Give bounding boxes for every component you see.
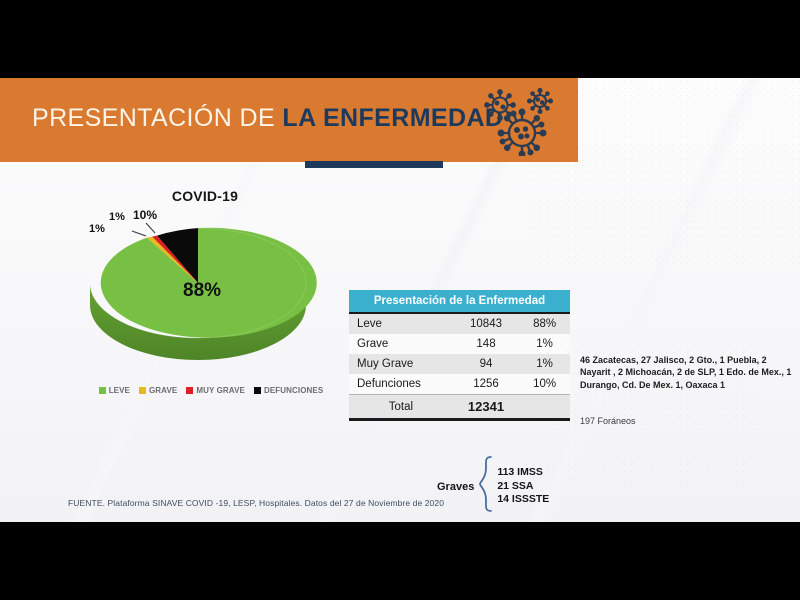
page-title-light: PRESENTACIÓN DE xyxy=(32,104,282,132)
presentation-slide: PRESENTACIÓN DE LA ENFERMEDAD xyxy=(0,78,800,522)
row-count-grave: 148 xyxy=(453,334,519,354)
graves-breakdown: Graves 113 IMSS 21 SSA 14 ISSSTE xyxy=(437,456,549,517)
legend-item-grave: GRAVE xyxy=(139,386,177,395)
chart-legend: LEVE GRAVE MUY GRAVE DEFUNCIONES xyxy=(72,386,350,395)
row-count-muy-grave: 94 xyxy=(453,354,519,374)
page-title: PRESENTACIÓN DE LA ENFERMEDAD xyxy=(32,104,503,133)
row-label-defunciones: Defunciones xyxy=(349,374,453,395)
row-percent-grave: 1% xyxy=(519,334,570,354)
pie-label-grave: 1% xyxy=(89,223,105,235)
legend-label-leve: LEVE xyxy=(109,386,130,395)
row-percent-defunciones: 10% xyxy=(519,374,570,395)
legend-label-muy-grave: MUY GRAVE xyxy=(196,386,245,395)
legend-label-defunciones: DEFUNCIONES xyxy=(264,386,323,395)
state-breakdown-note: 46 Zacatecas, 27 Jalisco, 2 Gto., 1 Pueb… xyxy=(580,354,792,391)
table-total-row: Total 12341 xyxy=(349,395,570,420)
total-label: Total xyxy=(349,395,453,420)
legend-swatch-defunciones xyxy=(254,387,261,394)
covid-pie-chart: COVID-19 xyxy=(60,188,350,423)
row-percent-muy-grave: 1% xyxy=(519,354,570,374)
pie-label-leve: 88% xyxy=(183,280,221,302)
page-title-bold: LA ENFERMEDAD xyxy=(282,104,503,132)
foraneos-note: 197 Foráneos xyxy=(580,416,636,426)
table-header-title: Presentación de la Enfermedad xyxy=(349,290,570,313)
title-underline-accent xyxy=(305,161,443,168)
row-label-grave: Grave xyxy=(349,334,453,354)
slide-header-band: PRESENTACIÓN DE LA ENFERMEDAD xyxy=(0,78,578,162)
legend-swatch-leve xyxy=(99,387,106,394)
table-row: Defunciones 1256 10% xyxy=(349,374,570,395)
curly-brace-icon xyxy=(479,456,493,517)
total-percent xyxy=(519,395,570,420)
legend-item-defunciones: DEFUNCIONES xyxy=(254,386,323,395)
table-header-row: Presentación de la Enfermedad xyxy=(349,290,570,313)
source-note: FUENTE. Plataforma SINAVE COVID -19, LES… xyxy=(68,498,444,508)
legend-swatch-muy-grave xyxy=(186,387,193,394)
table-row: Muy Grave 94 1% xyxy=(349,354,570,374)
table-row: Grave 148 1% xyxy=(349,334,570,354)
row-count-leve: 10843 xyxy=(453,313,519,334)
total-count: 12341 xyxy=(453,395,519,420)
row-label-leve: Leve xyxy=(349,313,453,334)
video-letterbox-frame: PRESENTACIÓN DE LA ENFERMEDAD xyxy=(0,0,800,600)
legend-label-grave: GRAVE xyxy=(149,386,177,395)
pie-label-muy-grave: 1% xyxy=(109,211,125,223)
row-label-muy-grave: Muy Grave xyxy=(349,354,453,374)
graves-label: Graves xyxy=(437,481,474,493)
graves-item: 14 ISSSTE xyxy=(497,493,549,506)
coronavirus-icon xyxy=(478,88,570,156)
disease-presentation-table: Presentación de la Enfermedad Leve 10843… xyxy=(349,290,570,421)
table-row: Leve 10843 88% xyxy=(349,313,570,334)
legend-swatch-grave xyxy=(139,387,146,394)
graves-item: 113 IMSS xyxy=(497,466,549,479)
row-count-defunciones: 1256 xyxy=(453,374,519,395)
legend-item-muy-grave: MUY GRAVE xyxy=(186,386,245,395)
graves-items: 113 IMSS 21 SSA 14 ISSSTE xyxy=(497,466,549,506)
legend-item-leve: LEVE xyxy=(99,386,130,395)
pie-label-defunciones: 10% xyxy=(133,208,157,222)
row-percent-leve: 88% xyxy=(519,313,570,334)
graves-item: 21 SSA xyxy=(497,480,549,493)
